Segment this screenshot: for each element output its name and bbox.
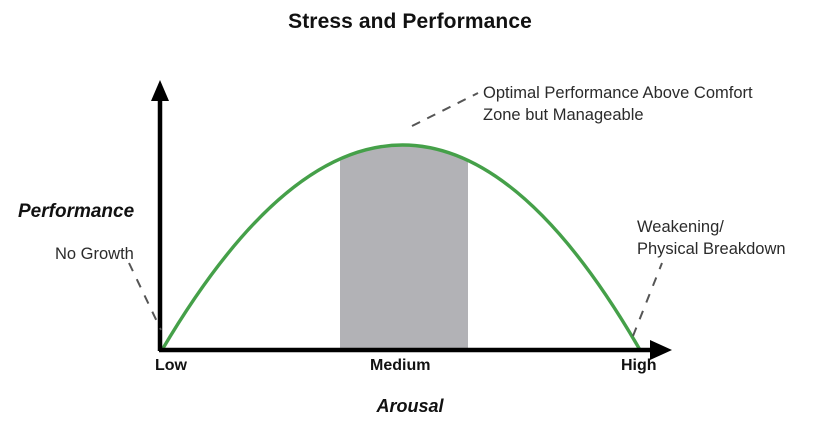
leader-line-weakening bbox=[633, 263, 662, 336]
leader-line-no-growth bbox=[129, 263, 161, 330]
optimal-zone-band bbox=[340, 100, 468, 350]
x-tick-label-medium: Medium bbox=[370, 357, 430, 375]
y-axis bbox=[151, 80, 169, 351]
y-axis-label: Performance bbox=[18, 201, 134, 223]
leader-line-optimal-zone bbox=[412, 93, 478, 126]
x-axis-label: Arousal bbox=[0, 396, 820, 417]
no-growth-annotation: No Growth bbox=[55, 243, 134, 265]
no-growth-annotation-line-1: No Growth bbox=[55, 243, 134, 265]
x-tick-label-low: Low bbox=[155, 357, 187, 375]
weakening-annotation: Weakening/ Physical Breakdown bbox=[637, 216, 786, 261]
x-tick-label-high: High bbox=[621, 357, 657, 375]
optimal-zone-annotation: Optimal Performance Above Comfort Zone b… bbox=[483, 82, 753, 127]
weakening-annotation-line-2: Physical Breakdown bbox=[637, 238, 786, 260]
stress-performance-chart: Stress and Performance Perform bbox=[0, 0, 820, 432]
weakening-annotation-line-1: Weakening/ bbox=[637, 216, 786, 238]
optimal-zone-annotation-line-1: Optimal Performance Above Comfort bbox=[483, 82, 753, 104]
optimal-zone-annotation-line-2: Zone but Manageable bbox=[483, 104, 753, 126]
